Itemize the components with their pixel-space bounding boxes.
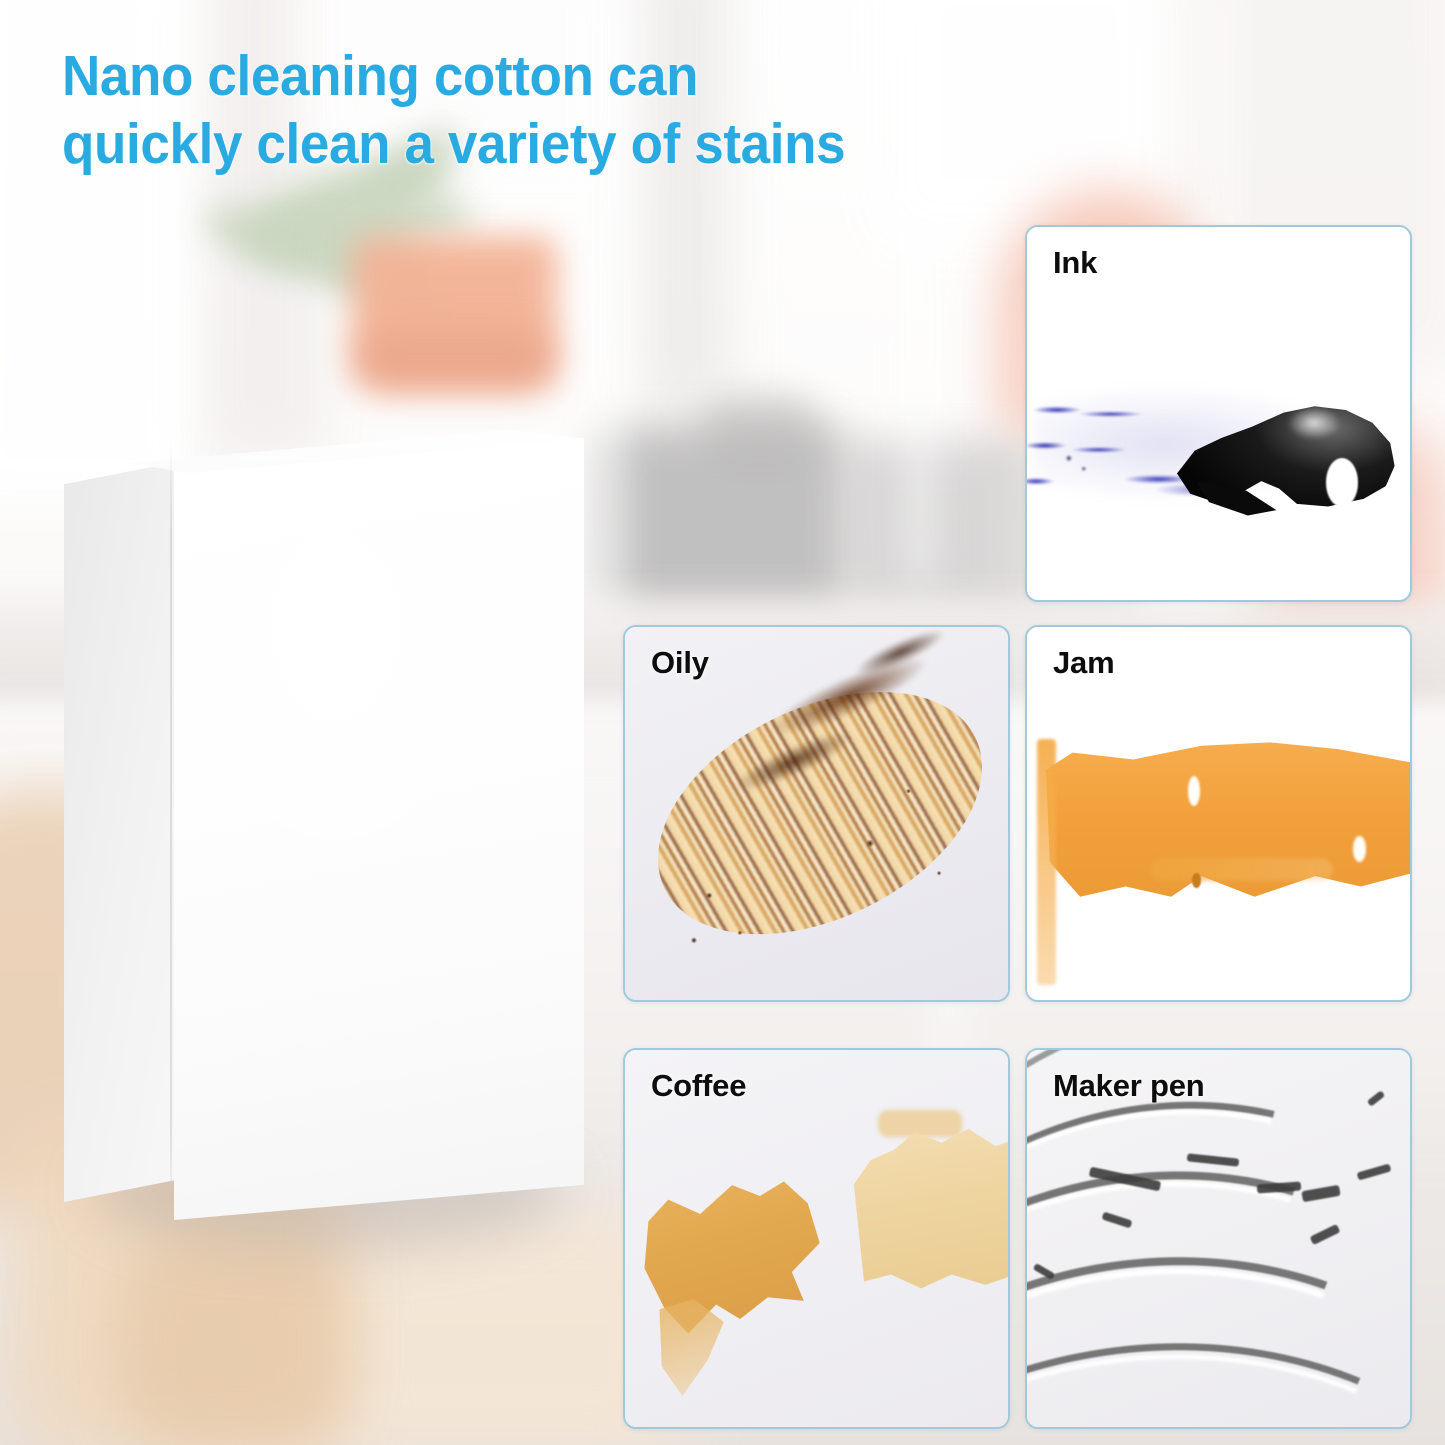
oily-stain-artwork: [625, 627, 1008, 1000]
sponge-block: [64, 430, 584, 1220]
stain-card-maker-pen[interactable]: Maker pen: [1025, 1048, 1412, 1429]
stain-card-jam[interactable]: Jam: [1025, 625, 1412, 1002]
page-title: Nano cleaning cotton can quickly clean a…: [62, 42, 1029, 179]
maker-pen-stain-artwork: [1027, 1050, 1410, 1427]
stain-card-label: Oily: [651, 645, 709, 681]
stain-card-label: Maker pen: [1053, 1068, 1205, 1104]
jam-stain-artwork: [1027, 627, 1410, 1000]
stain-card-label: Jam: [1053, 645, 1114, 681]
stain-card-ink[interactable]: Ink: [1025, 225, 1412, 602]
stain-card-coffee[interactable]: Coffee: [623, 1048, 1010, 1429]
promo-image: Nano cleaning cotton can quickly clean a…: [0, 0, 1445, 1445]
coffee-stain-artwork: [625, 1050, 1008, 1427]
ink-stain-artwork: [1027, 227, 1410, 600]
grey-pot: [600, 425, 850, 615]
stain-card-label: Coffee: [651, 1068, 746, 1104]
stain-card-label: Ink: [1053, 245, 1097, 281]
stain-card-oily[interactable]: Oily: [623, 625, 1010, 1002]
